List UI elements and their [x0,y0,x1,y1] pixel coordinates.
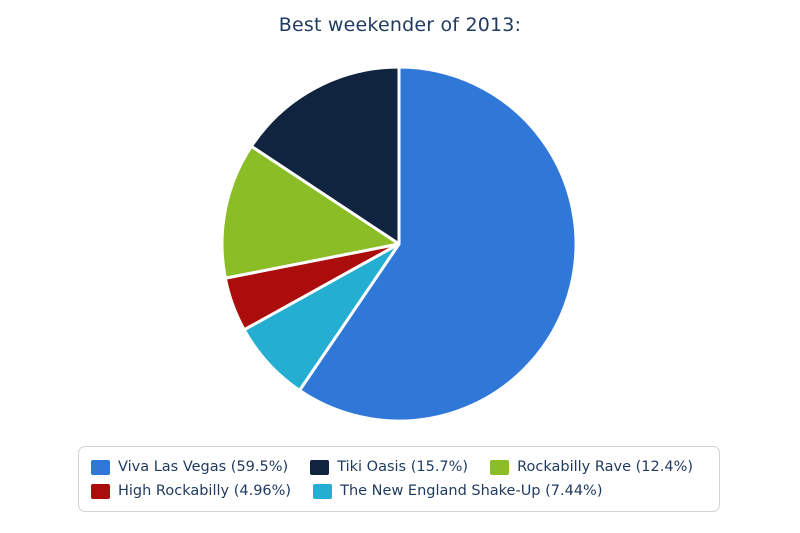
legend-label: Tiki Oasis (15.7%) [337,459,468,475]
legend-entry[interactable]: High Rockabilly (4.96%) [91,483,291,499]
chart-legend: Viva Las Vegas (59.5%)Tiki Oasis (15.7%)… [78,446,720,512]
legend-row: Viva Las Vegas (59.5%)Tiki Oasis (15.7%)… [79,455,719,479]
legend-label: The New England Shake-Up (7.44%) [340,483,602,499]
legend-entry[interactable]: Rockabilly Rave (12.4%) [490,459,693,475]
legend-entry[interactable]: The New England Shake-Up (7.44%) [313,483,602,499]
legend-color-swatch [310,460,329,475]
legend-label: Rockabilly Rave (12.4%) [517,459,693,475]
legend-color-swatch [490,460,509,475]
pie-chart-figure: Best weekender of 2013: Viva Las Vegas (… [0,0,800,533]
legend-entry[interactable]: Tiki Oasis (15.7%) [310,459,468,475]
pie-svg [0,0,800,440]
pie-plot-area [0,0,800,440]
legend-label: Viva Las Vegas (59.5%) [118,459,288,475]
legend-color-swatch [91,460,110,475]
legend-entry[interactable]: Viva Las Vegas (59.5%) [91,459,288,475]
legend-color-swatch [91,484,110,499]
legend-color-swatch [313,484,332,499]
legend-row: High Rockabilly (4.96%)The New England S… [79,479,719,503]
legend-label: High Rockabilly (4.96%) [118,483,291,499]
pie-slice-group [222,67,576,421]
